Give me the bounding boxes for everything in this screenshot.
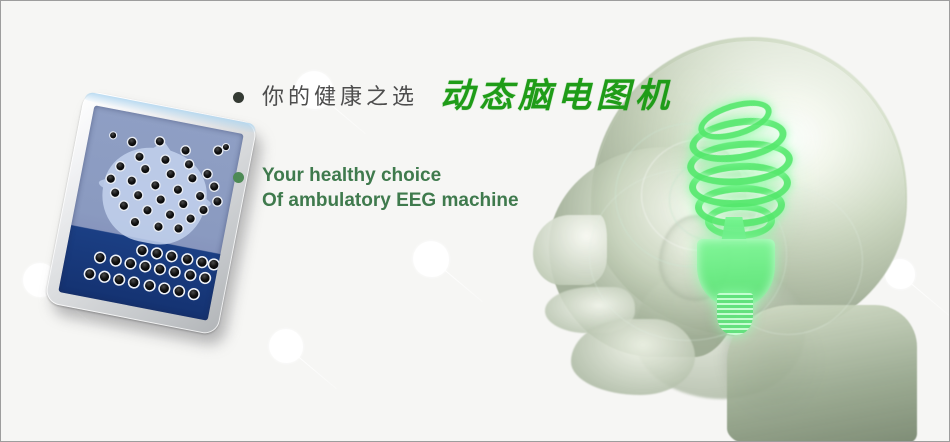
electrode-socket <box>127 137 136 146</box>
electrode-socket <box>129 277 140 288</box>
electrode-socket <box>159 283 170 294</box>
electrode-socket <box>152 248 163 259</box>
electrode-socket <box>140 261 151 272</box>
bulb-screw-base <box>717 293 753 335</box>
electrode-socket <box>182 254 193 265</box>
electrode-socket <box>203 169 212 178</box>
electrode-socket <box>110 132 117 139</box>
electrode-socket <box>125 259 136 270</box>
english-copy: Your healthy choice Of ambulatory EEG ma… <box>262 163 519 213</box>
chinese-subtitle: 你的健康之选 <box>262 83 418 111</box>
electrode-socket <box>174 286 185 297</box>
electrode-socket <box>155 264 166 275</box>
electrode-socket <box>196 257 207 268</box>
device-front-panel <box>58 105 243 321</box>
electrode-socket <box>84 268 95 279</box>
electrode-socket <box>222 144 229 151</box>
electrode-socket <box>95 253 106 264</box>
electrode-socket <box>170 267 181 278</box>
electrode-socket <box>200 273 211 284</box>
english-line-2: Of ambulatory EEG machine <box>262 188 519 213</box>
electrode-socket <box>189 288 200 299</box>
electrode-socket <box>110 256 121 267</box>
electrode-socket <box>214 146 223 155</box>
electrode-socket <box>99 271 110 282</box>
chinese-title: 动态脑电图机 <box>440 83 674 111</box>
electrode-socket <box>208 259 219 270</box>
electrode-socket <box>213 196 222 205</box>
electrode-socket <box>167 251 178 262</box>
electrode-socket <box>137 245 148 256</box>
subhead-row: Your healthy choice Of ambulatory EEG ma… <box>233 163 633 213</box>
electrode-socket <box>114 274 125 285</box>
electrode-socket <box>144 280 155 291</box>
english-line-1: Your healthy choice <box>262 163 519 188</box>
electrode-socket <box>181 146 190 155</box>
cfl-bulb-icon <box>683 97 793 317</box>
magnifier-watermark-icon <box>413 241 449 277</box>
headline-row: 你的健康之选 动态脑电图机 <box>233 83 633 111</box>
eeg-device-image <box>44 90 258 336</box>
electrode-socket <box>185 270 196 281</box>
bullet-dot-icon <box>233 92 244 103</box>
magnifier-watermark-icon <box>269 329 303 363</box>
eeg-product-banner: 你的健康之选 动态脑电图机 Your healthy choice Of amb… <box>0 0 950 442</box>
bullet-dot-icon <box>233 172 244 183</box>
banner-copy: 你的健康之选 动态脑电图机 Your healthy choice Of amb… <box>233 83 633 213</box>
electrode-socket <box>210 182 219 191</box>
